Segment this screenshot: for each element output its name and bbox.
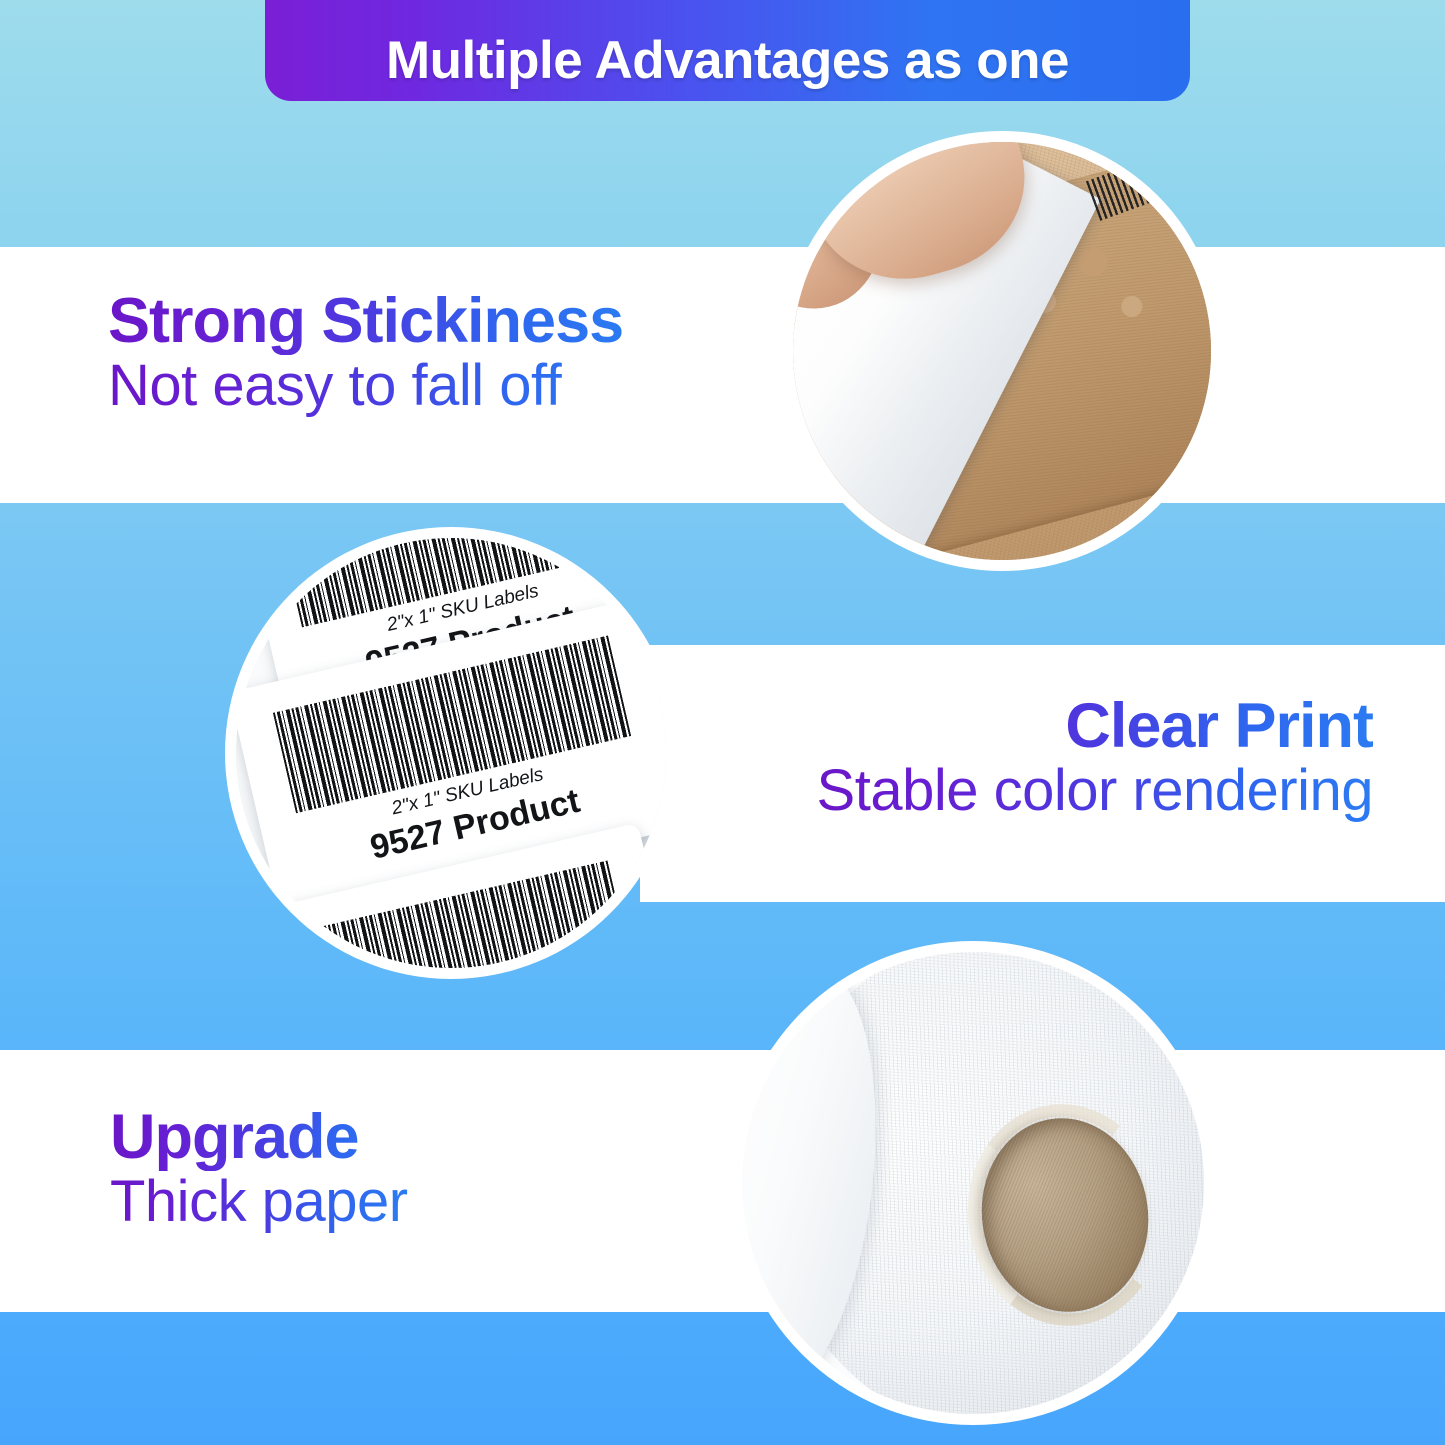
feature-subtitle: Thick paper — [110, 1171, 408, 1233]
feature-strong-stickiness: Strong Stickiness Not easy to fall off — [108, 288, 623, 417]
roll-photo — [742, 952, 1204, 1414]
feature-clear-print: Clear Print Stable color rendering — [817, 693, 1373, 822]
feature-title: Strong Stickiness — [108, 288, 623, 355]
peel-photo — [793, 142, 1211, 560]
feature-title: Upgrade — [110, 1104, 408, 1171]
product-infographic: { "header": { "title": "Multiple Advanta… — [0, 0, 1445, 1445]
feature-subtitle: Not easy to fall off — [108, 355, 623, 417]
header-banner: Multiple Advantages as one — [265, 0, 1190, 101]
feature-subtitle: Stable color rendering — [817, 760, 1373, 822]
thumbnail — [815, 142, 883, 155]
roll-tail-edge — [742, 960, 779, 1393]
page-title: Multiple Advantages as one — [386, 34, 1069, 87]
labels-photo: 2"x 1" SKU Labels 9527 Product 2"x 1" SK… — [236, 538, 666, 968]
feature-upgrade: Upgrade Thick paper — [110, 1104, 408, 1233]
feature-title: Clear Print — [817, 693, 1373, 760]
